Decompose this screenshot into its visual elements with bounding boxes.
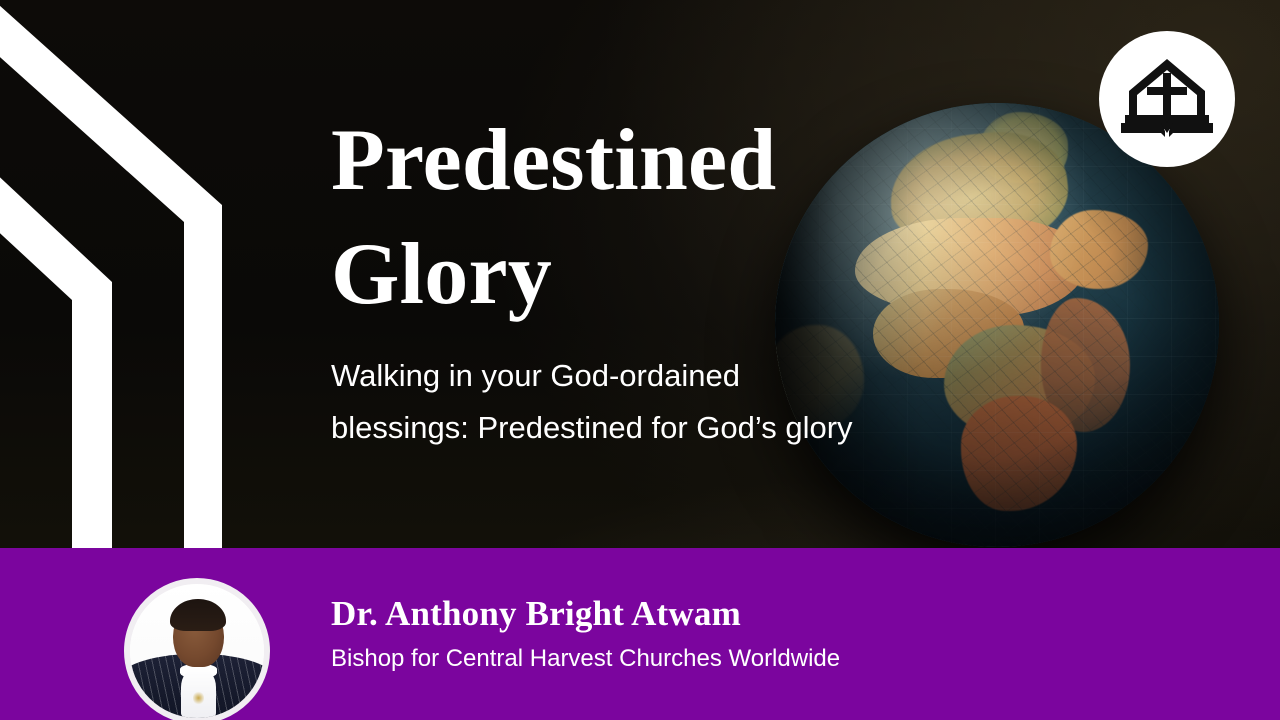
avatar xyxy=(124,578,270,720)
subtitle-line-2: blessings: Predestined for God’s glory xyxy=(331,402,1011,454)
sermon-title-slide: Predestined Glory Walking in your God-or… xyxy=(0,0,1280,720)
church-cross-bible-logo-icon xyxy=(1119,53,1215,145)
avatar-photo xyxy=(130,584,264,718)
title-line-2: Glory xyxy=(331,218,891,332)
speaker-info: Dr. Anthony Bright Atwam Bishop for Cent… xyxy=(331,592,1091,674)
avatar-pectoral-chain xyxy=(193,691,204,704)
subtitle-line-1: Walking in your God-ordained xyxy=(331,350,1011,402)
subtitle: Walking in your God-ordained blessings: … xyxy=(331,350,1011,454)
page-title: Predestined Glory xyxy=(331,104,891,333)
speaker-role: Bishop for Central Harvest Churches Worl… xyxy=(331,644,1091,674)
chevron-bracket-icon xyxy=(0,0,260,552)
church-logo-badge[interactable] xyxy=(1099,31,1235,167)
title-line-1: Predestined xyxy=(331,104,891,218)
speaker-name: Dr. Anthony Bright Atwam xyxy=(331,592,1091,636)
chevron-inner-shape xyxy=(0,140,112,552)
